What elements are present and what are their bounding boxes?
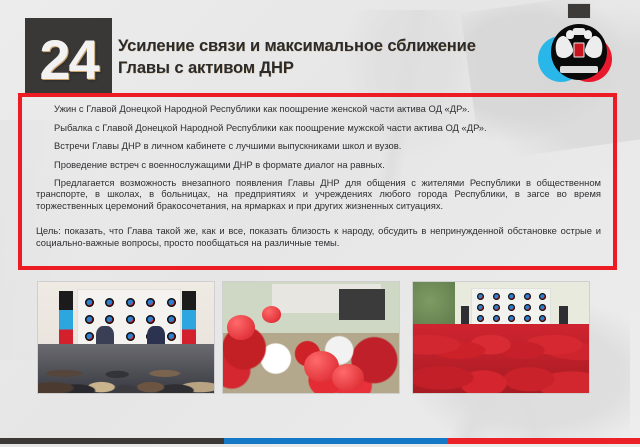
photo1-flag-left [59,291,73,349]
banner-logo-dot [508,293,515,300]
photo3-foliage [413,282,455,329]
banner-logo-dot [126,332,135,341]
photo-outdoor-rally [222,281,400,394]
banner-logo-dot [85,315,94,324]
banner-logo-dot [146,315,155,324]
flag-bar-blue [224,438,448,444]
bullet-item: Проведение встреч с военнослужащими ДНР … [36,159,601,170]
photo2-balloon [262,306,281,323]
photo3-speaker-right [559,306,568,324]
corner-marker-square [567,3,591,19]
banner-logo-dot [539,293,546,300]
banner-logo-dot [524,304,531,311]
photo3-crowd [413,324,589,393]
banner-logo-dot [105,298,114,307]
flag-bar-red [448,438,640,444]
flag-bar-black [0,438,224,444]
bullet-item: Предлагается возможность внезапного появ… [36,177,601,210]
bullet-item: Встречи Главы ДНР в личном кабинете с лу… [36,140,601,151]
banner-logo-dot [85,298,94,307]
banner-logo-dot [126,298,135,307]
banner-logo-dot [493,304,500,311]
banner-logo-dot [126,315,135,324]
banner-logo-dot [524,315,531,322]
banner-logo-dot [477,293,484,300]
bullet-item: Ужин с Главой Донецкой Народной Республи… [36,103,601,114]
dnr-emblem-icon [538,24,612,90]
banner-logo-dot [508,315,515,322]
banner-logo-dot [493,293,500,300]
flag-bar [0,438,640,444]
presentation-slide: 24 Усиление связи и максимальное сближен… [0,0,640,447]
banner-logo-dot [167,315,176,324]
photo3-speaker-left [461,306,470,324]
photo-meeting-hall [37,281,215,394]
banner-logo-dot [85,332,94,341]
banner-logo-dot [167,298,176,307]
slide-number-badge: 24 [25,18,112,96]
photo2-balloon [227,315,255,339]
banner-logo-dot [539,315,546,322]
photo3-banner-wall [471,288,550,326]
bullet-item: Рыбалка с Главой Донецкой Народной Респу… [36,122,601,133]
banner-logo-dot [493,315,500,322]
photo2-balloon [332,364,364,391]
eagle-shield [574,43,585,58]
photo1-audience [38,344,214,393]
slide-title: Усиление связи и максимальное сближение … [118,36,528,80]
banner-logo-dot [105,315,114,324]
slide-number-text: 24 [39,32,97,88]
photo1-banner-wall [77,289,181,349]
banner-logo-dot [167,332,176,341]
banner-logo-dot [477,304,484,311]
content-box: Ужин с Главой Донецкой Народной Республи… [18,93,617,270]
goal-paragraph: Цель: показать, что Глава такой же, как … [36,225,601,249]
banner-logo-dot [146,298,155,307]
banner-logo-dot [539,304,546,311]
content-inner: Ужин с Главой Донецкой Народной Республи… [22,97,613,266]
photo1-flag-right [182,291,196,349]
eagle-ribbon [560,66,598,73]
banner-logo-dot [524,293,531,300]
banner-logo-dot [477,315,484,322]
double-headed-eagle-icon [551,24,607,80]
photo-youth-assembly [412,281,590,394]
banner-logo-dot [508,304,515,311]
